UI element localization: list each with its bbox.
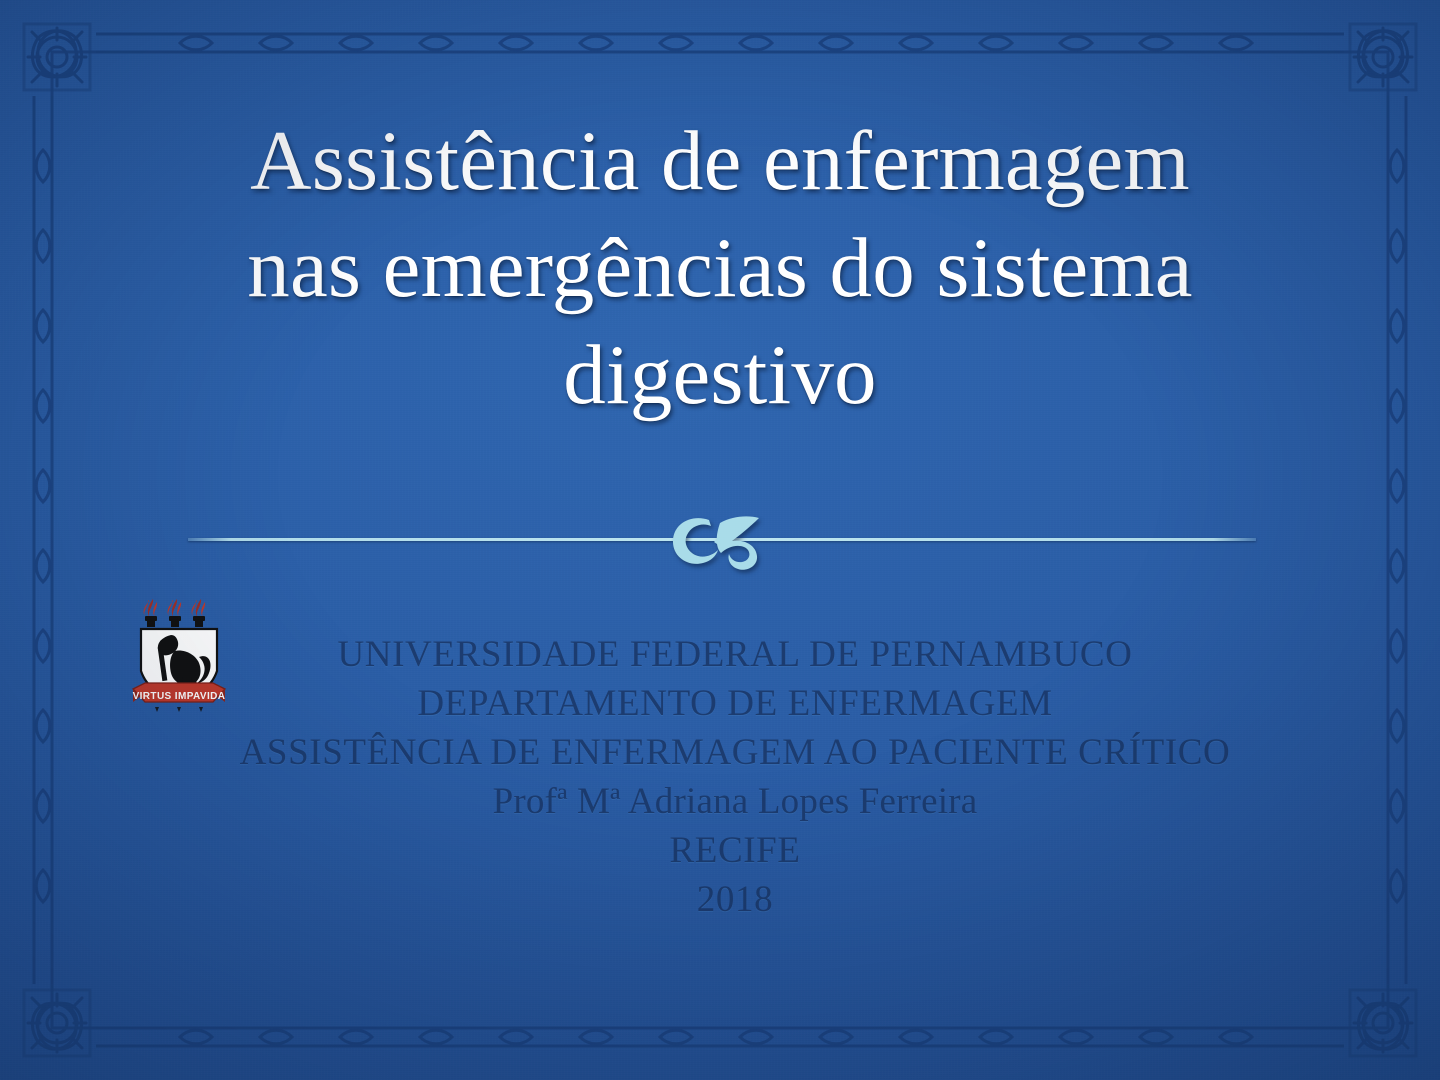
- slide-title: Assistência de enfermagem nas emergência…: [130, 108, 1310, 429]
- title-line-2: nas emergências do sistema: [247, 221, 1192, 315]
- subtitle-line-department: DEPARTAMENTO DE ENFERMAGEM: [120, 679, 1350, 728]
- subtitle-line-city: RECIFE: [120, 826, 1350, 875]
- slide-subtitle: UNIVERSIDADE FEDERAL DE PERNAMBUCO DEPAR…: [120, 630, 1350, 924]
- corner-ornament-top-left: [24, 24, 90, 90]
- subtitle-line-university: UNIVERSIDADE FEDERAL DE PERNAMBUCO: [120, 630, 1350, 679]
- page-title: Assistência de enfermagem nas emergência…: [130, 108, 1310, 429]
- title-divider: [188, 510, 1256, 572]
- corner-ornament-top-right: [1350, 24, 1416, 90]
- subtitle-line-professor: Profª Mª Adriana Lopes Ferreira: [120, 777, 1350, 826]
- title-line-3: digestivo: [563, 328, 876, 422]
- subtitle-line-year: 2018: [120, 875, 1350, 924]
- title-line-1: Assistência de enfermagem: [250, 114, 1190, 208]
- corner-ornament-bottom-left: [24, 990, 90, 1056]
- fleuron-ornament: [646, 509, 798, 573]
- subtitle-line-course: ASSISTÊNCIA DE ENFERMAGEM AO PACIENTE CR…: [120, 728, 1350, 777]
- torch-flames: [144, 599, 206, 627]
- corner-ornament-bottom-right: [1350, 990, 1416, 1056]
- title-slide: Assistência de enfermagem nas emergência…: [0, 0, 1440, 1080]
